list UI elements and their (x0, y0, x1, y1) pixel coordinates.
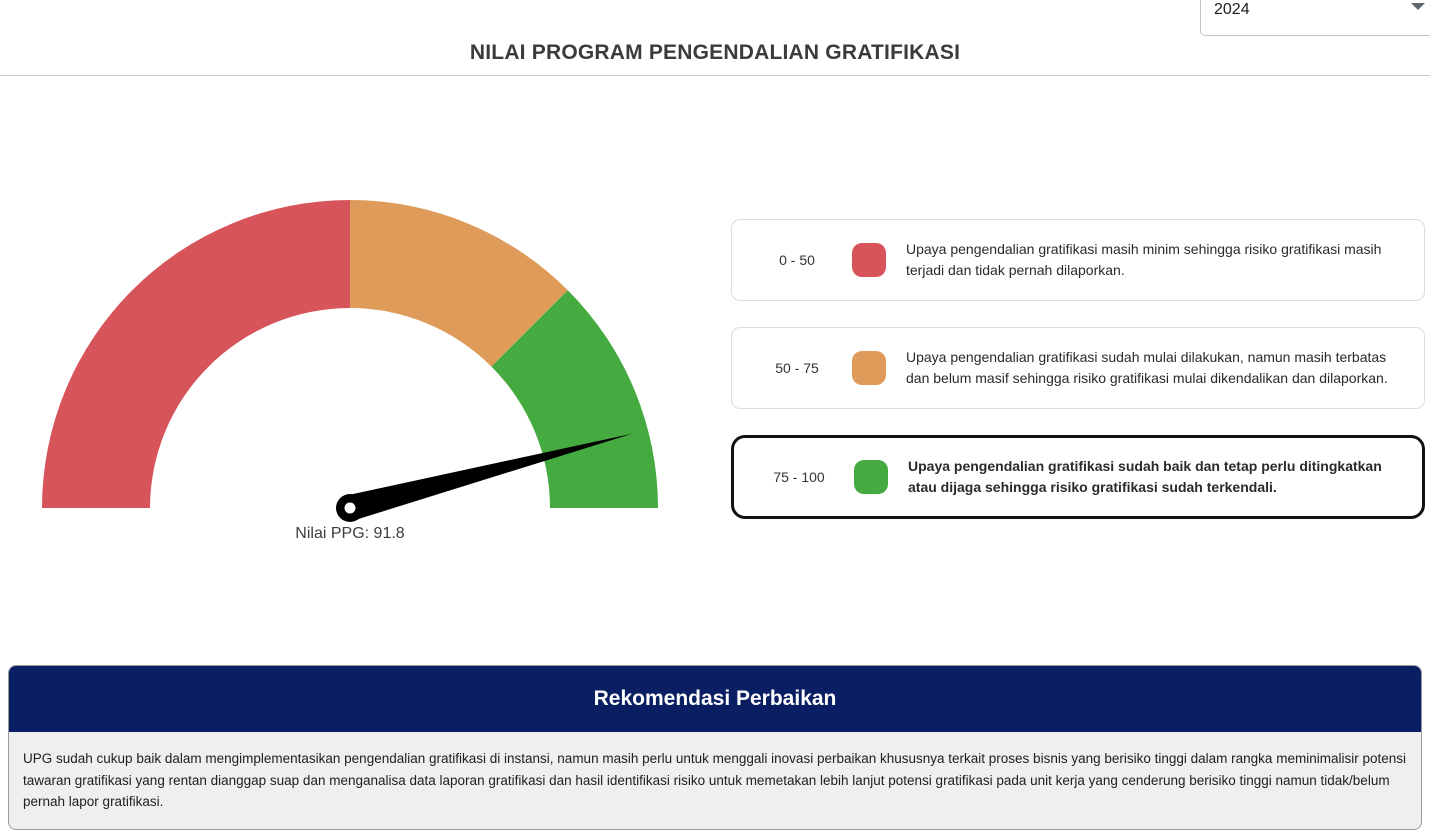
recommendation-body: UPG sudah cukup baik dalam mengimplement… (9, 732, 1421, 823)
page-header: NILAI PROGRAM PENGENDALIAN GRATIFIKASI T… (0, 0, 1430, 76)
gauge-svg (24, 180, 684, 560)
legend-range: 75 - 100 (744, 469, 854, 485)
legend-color-swatch (852, 243, 886, 277)
year-filter-select[interactable]: Tahun 2024 (1200, 0, 1430, 36)
legend-color-swatch (852, 351, 886, 385)
legend-description: Upaya pengendalian gratifikasi sudah mul… (906, 347, 1408, 389)
legend-description: Upaya pengendalian gratifikasi sudah bai… (908, 456, 1406, 498)
recommendation-header: Rekomendasi Perbaikan (9, 666, 1421, 732)
legend-item-active[interactable]: 75 - 100 Upaya pengendalian gratifikasi … (731, 435, 1425, 519)
legend-item[interactable]: 50 - 75 Upaya pengendalian gratifikasi s… (731, 327, 1425, 409)
gauge-value-label: Nilai PPG: 91.8 (24, 525, 676, 543)
gauge-band (42, 200, 350, 508)
legend-range: 0 - 50 (742, 252, 852, 268)
recommendation-panel: Rekomendasi Perbaikan UPG sudah cukup ba… (8, 665, 1422, 830)
legend-item[interactable]: 0 - 50 Upaya pengendalian gratifikasi ma… (731, 219, 1425, 301)
legend-description: Upaya pengendalian gratifikasi masih min… (906, 239, 1408, 281)
legend-color-swatch (854, 460, 888, 494)
chevron-down-icon[interactable] (1411, 3, 1425, 10)
gauge-needle-hub-hole (345, 503, 356, 514)
legend-range: 50 - 75 (742, 360, 852, 376)
ppg-gauge: Nilai PPG: 91.8 (24, 180, 684, 560)
page-title: NILAI PROGRAM PENGENDALIAN GRATIFIKASI (0, 41, 1430, 65)
recommendation-title: Rekomendasi Perbaikan (594, 687, 837, 711)
year-filter-value: 2024 (1214, 1, 1250, 19)
dashboard-page: NILAI PROGRAM PENGENDALIAN GRATIFIKASI T… (0, 0, 1430, 834)
gauge-legend: 0 - 50 Upaya pengendalian gratifikasi ma… (731, 219, 1425, 545)
